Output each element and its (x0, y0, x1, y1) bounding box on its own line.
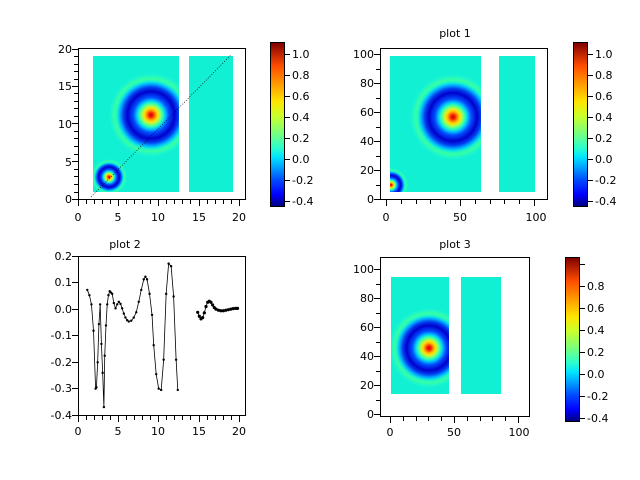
panel-bottom-left-axes[interactable] (78, 256, 246, 416)
tl-x-1: 50 (450, 211, 470, 224)
panel-bottom-right: plot 3 (320, 232, 640, 480)
tl-x-3: 15 (189, 425, 209, 438)
tl-x-2: 10 (148, 211, 168, 224)
cb-tl-4: 0.4 (292, 111, 310, 124)
xtick-minor (86, 200, 87, 204)
ytick-minor (376, 400, 380, 401)
xtick-minor (519, 200, 520, 204)
cb-tl-5: 0.6 (595, 90, 613, 103)
cb-tl-2: 0.0 (292, 153, 310, 166)
cbtick (588, 75, 593, 76)
tl-y-3: 60 (344, 321, 374, 334)
ytick-minor (376, 313, 380, 314)
tl-y-1: 20 (344, 379, 374, 392)
xtick-minor (207, 200, 208, 204)
xtick-minor (134, 200, 135, 204)
xtick-minor (490, 200, 491, 204)
heatmap-block-right (189, 56, 233, 192)
tl-x-0: 0 (68, 211, 88, 224)
tl-x-1: 5 (108, 425, 128, 438)
xtick-major (239, 200, 240, 206)
ytick-major (374, 385, 380, 386)
tl-y-4: 80 (344, 77, 374, 90)
cbtick (588, 54, 593, 55)
xtick-minor (231, 200, 232, 204)
cb-tl-7: 1.0 (595, 48, 613, 61)
colorbar-gradient (574, 43, 587, 206)
ytick-minor (74, 138, 78, 139)
ytick-major (374, 112, 380, 113)
ytick-major (374, 170, 380, 171)
cbtick (580, 330, 585, 331)
ytick-major (72, 362, 78, 363)
ytick-minor (74, 176, 78, 177)
tl-x-3: 15 (189, 211, 209, 224)
xtick-minor (166, 416, 167, 420)
cbtick (285, 138, 290, 139)
figure-canvas: 0 5 10 15 20 0 5 10 15 20 (0, 0, 640, 480)
tl-x-0: 0 (68, 425, 88, 438)
xtick-minor (223, 416, 224, 420)
tl-y-2: 40 (344, 135, 374, 148)
xtick-minor (142, 416, 143, 420)
cb-tl-2: 0.0 (595, 153, 613, 166)
ytick-major (374, 298, 380, 299)
ytick-minor (74, 169, 78, 170)
xtick-minor (174, 200, 175, 204)
heatmap-block-left (91, 56, 193, 195)
ytick-minor (74, 71, 78, 72)
xtick-minor (416, 417, 417, 421)
xtick-major (518, 417, 519, 423)
ytick-minor (74, 192, 78, 193)
cbtick (588, 159, 593, 160)
xtick-minor (126, 416, 127, 420)
tl-y-5: 100 (344, 48, 374, 61)
xtick-minor (134, 416, 135, 420)
tl-y-1: 20 (344, 164, 374, 177)
xtick-major (390, 417, 391, 423)
xtick-minor (445, 200, 446, 204)
xtick-minor (428, 417, 429, 421)
xtick-minor (416, 200, 417, 204)
series-segment-2 (196, 300, 239, 321)
cbtick (580, 308, 585, 309)
cbtick (285, 75, 290, 76)
tl-x-2: 10 (148, 425, 168, 438)
xtick-minor (102, 416, 103, 420)
xtick-major (534, 200, 535, 206)
xtick-minor (505, 417, 506, 421)
tl-x-4: 20 (229, 211, 249, 224)
ytick-major (72, 49, 78, 50)
cbtick (285, 54, 290, 55)
xtick-minor (110, 200, 111, 204)
ytick-minor (74, 108, 78, 109)
xtick-major (118, 416, 119, 422)
colorbar-top-right[interactable] (573, 42, 588, 207)
colorbar-top-left[interactable] (270, 42, 285, 207)
xtick-minor (190, 200, 191, 204)
ytick-major (374, 199, 380, 200)
colorbar-gradient (271, 43, 284, 206)
cbtick (588, 96, 593, 97)
tl-y-3: 15 (46, 80, 72, 93)
xtick-minor (467, 417, 468, 421)
xtick-major (199, 200, 200, 206)
xtick-minor (215, 200, 216, 204)
ytick-minor (74, 184, 78, 185)
ytick-major (374, 54, 380, 55)
tl-y-2: 40 (344, 350, 374, 363)
ytick-major (374, 356, 380, 357)
ytick-major (374, 269, 380, 270)
ytick-minor (376, 156, 380, 157)
ytick-minor (74, 131, 78, 132)
tl-x-2: 100 (523, 211, 549, 224)
ytick-minor (376, 127, 380, 128)
tl-y-3: -0.1 (34, 329, 72, 342)
xtick-minor (207, 416, 208, 420)
tl-y-5: 0.1 (38, 276, 72, 289)
xtick-minor (430, 200, 431, 204)
tl-x-0: 0 (380, 426, 400, 439)
ytick-minor (376, 284, 380, 285)
ytick-minor (376, 69, 380, 70)
cb-tl-7: 1.0 (292, 48, 310, 61)
tl-x-0: 0 (376, 211, 396, 224)
xtick-major (386, 200, 387, 206)
xtick-major (199, 416, 200, 422)
panel-bottom-right-title: plot 3 (340, 238, 570, 251)
cb-tl-3: 0.2 (595, 132, 613, 145)
ytick-major (72, 161, 78, 162)
cb-tl-0: -0.4 (595, 195, 616, 208)
ytick-minor (74, 146, 78, 147)
tl-y-0: 0 (46, 193, 72, 206)
ytick-major (72, 282, 78, 283)
ytick-major (72, 309, 78, 310)
cb-tl-1: -0.2 (587, 390, 608, 403)
panel-bottom-left: plot 2 0.2 0.1 0.0 -0.1 -0.2 -0.3 -0.4 0… (0, 232, 320, 480)
cb-tl-6: 0.8 (587, 280, 605, 293)
tl-y-0: 0 (344, 408, 374, 421)
cbtick (580, 374, 585, 375)
cb-tl-6: 0.8 (595, 69, 613, 82)
cb-tl-0: -0.4 (587, 412, 608, 425)
tl-y-0: 0 (344, 193, 374, 206)
xtick-minor (492, 417, 493, 421)
ytick-minor (74, 116, 78, 117)
cb-tl-1: -0.2 (595, 174, 616, 187)
ytick-major (374, 327, 380, 328)
tl-y-0: -0.4 (34, 409, 72, 422)
panel-top-right-axes[interactable] (380, 48, 548, 200)
cb-tl-3: 0.2 (587, 346, 605, 359)
ytick-major (72, 388, 78, 389)
xtick-minor (504, 200, 505, 204)
tl-y-1: 5 (46, 156, 72, 169)
cbtick (580, 286, 585, 287)
xtick-minor (403, 417, 404, 421)
xtick-major (158, 416, 159, 422)
colorbar-bottom-right[interactable] (565, 257, 580, 422)
xtick-minor (190, 416, 191, 420)
tl-x-1: 5 (108, 211, 128, 224)
xtick-minor (166, 200, 167, 204)
xtick-minor (102, 200, 103, 204)
ytick-minor (74, 79, 78, 80)
ytick-minor (376, 98, 380, 99)
ytick-minor (376, 185, 380, 186)
panel-bottom-right-axes[interactable] (380, 257, 530, 417)
ytick-minor (74, 154, 78, 155)
xtick-minor (150, 416, 151, 420)
xtick-major (78, 200, 79, 206)
cb-tl-2: 0.0 (587, 368, 605, 381)
cb-tl-4: 0.4 (595, 111, 613, 124)
panel-top-right-title: plot 1 (340, 27, 570, 40)
xtick-major (454, 417, 455, 423)
tl-x-1: 50 (444, 426, 464, 439)
panel-top-right: plot 1 (320, 0, 640, 232)
xtick-major (460, 200, 461, 206)
xtick-minor (94, 416, 95, 420)
tl-y-1: -0.3 (34, 382, 72, 395)
xtick-minor (401, 200, 402, 204)
xtick-minor (150, 200, 151, 204)
cbtick (580, 264, 585, 265)
ytick-minor (74, 64, 78, 65)
cbtick (285, 201, 290, 202)
ytick-major (72, 335, 78, 336)
tl-y-3: 60 (344, 106, 374, 119)
ytick-major (374, 414, 380, 415)
cbtick (285, 159, 290, 160)
heatmap-block-left (389, 277, 469, 394)
xtick-major (118, 200, 119, 206)
heatmap-block-right (499, 56, 535, 192)
xtick-minor (480, 417, 481, 421)
tl-y-2: 10 (46, 118, 72, 131)
cb-tl-4: 0.4 (587, 324, 605, 337)
cbtick (588, 180, 593, 181)
cbtick (580, 396, 585, 397)
cb-tl-3: 0.2 (292, 132, 310, 145)
xtick-minor (94, 200, 95, 204)
xtick-minor (475, 200, 476, 204)
xtick-major (239, 416, 240, 422)
xtick-minor (182, 416, 183, 420)
tl-x-2: 100 (506, 426, 532, 439)
cb-tl-5: 0.6 (587, 302, 605, 315)
ytick-major (374, 83, 380, 84)
tl-y-4: 20 (46, 43, 72, 56)
cbtick (588, 117, 593, 118)
cb-tl-0: -0.4 (292, 195, 313, 208)
cbtick (285, 117, 290, 118)
heatmap-block-left (381, 56, 496, 199)
ytick-minor (74, 56, 78, 57)
cbtick (580, 418, 585, 419)
xtick-major (78, 416, 79, 422)
xtick-minor (231, 416, 232, 420)
series-segment-1 (86, 262, 179, 408)
cb-tl-5: 0.6 (292, 90, 310, 103)
xtick-minor (182, 200, 183, 204)
ytick-minor (74, 101, 78, 102)
cbtick (588, 138, 593, 139)
xtick-minor (126, 200, 127, 204)
xtick-minor (110, 416, 111, 420)
tl-y-2: -0.2 (34, 356, 72, 369)
colorbar-gradient (566, 258, 579, 421)
panel-top-left: 0 5 10 15 20 0 5 10 15 20 (0, 0, 320, 232)
tl-y-5: 100 (344, 263, 374, 276)
tl-y-6: 0.2 (38, 250, 72, 263)
xtick-minor (142, 200, 143, 204)
cbtick (580, 352, 585, 353)
ytick-major (72, 86, 78, 87)
xtick-major (158, 200, 159, 206)
ytick-minor (376, 342, 380, 343)
tl-y-4: 0.0 (38, 303, 72, 316)
tl-x-4: 20 (229, 425, 249, 438)
panel-top-left-axes[interactable] (78, 48, 246, 200)
ytick-minor (74, 93, 78, 94)
cbtick (588, 201, 593, 202)
ytick-major (72, 123, 78, 124)
xtick-minor (441, 417, 442, 421)
xtick-minor (215, 416, 216, 420)
xtick-minor (174, 416, 175, 420)
ytick-major (374, 141, 380, 142)
heatmap-block-right (461, 277, 501, 394)
xtick-minor (223, 200, 224, 204)
cb-tl-6: 0.8 (292, 69, 310, 82)
xtick-minor (86, 416, 87, 420)
tl-y-4: 80 (344, 292, 374, 305)
ytick-major (72, 256, 78, 257)
ytick-minor (376, 371, 380, 372)
cb-tl-1: -0.2 (292, 174, 313, 187)
cbtick (285, 96, 290, 97)
cbtick (285, 180, 290, 181)
